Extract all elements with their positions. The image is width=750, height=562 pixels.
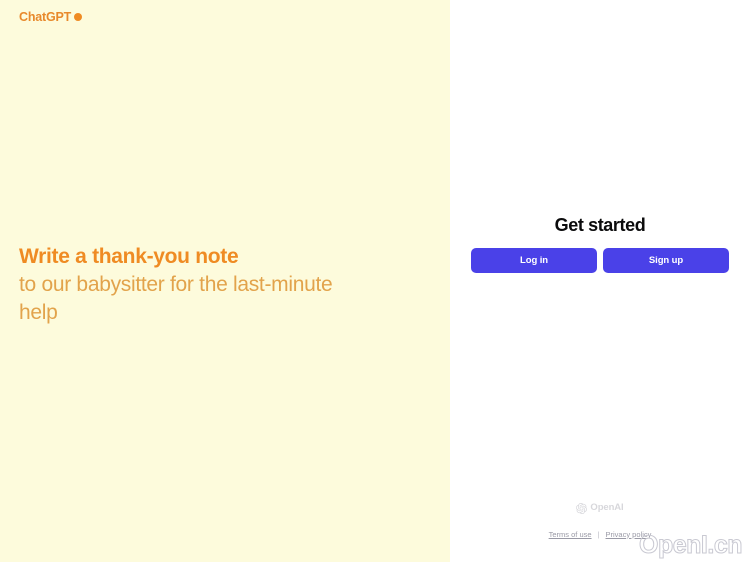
privacy-policy-link[interactable]: Privacy policy [606, 531, 652, 539]
chatgpt-brand: ChatGPT [19, 11, 82, 24]
login-button[interactable]: Log in [471, 248, 597, 273]
openai-logo: OpenAI [576, 503, 623, 514]
left-promo-panel: ChatGPT Write a thank-you note to our ba… [0, 0, 450, 562]
signup-button[interactable]: Sign up [603, 248, 729, 273]
promo-primary-line: Write a thank-you note [19, 243, 419, 271]
right-auth-panel: Get started Log in Sign up OpenAI Terms … [450, 0, 750, 562]
terms-of-use-link[interactable]: Terms of use [549, 531, 592, 539]
openai-logo-text: OpenAI [590, 503, 623, 513]
get-started-heading: Get started [555, 216, 646, 234]
chatgpt-wordmark: ChatGPT [19, 11, 71, 24]
chatgpt-splash-page: ChatGPT Write a thank-you note to our ba… [0, 0, 750, 562]
openai-logo-icon [576, 503, 587, 514]
footer-link-separator: | [598, 531, 600, 539]
footer-links: Terms of use | Privacy policy [549, 531, 652, 539]
promo-secondary-line-1: to our babysitter for the last-minute [19, 271, 419, 299]
footer: OpenAI Terms of use | Privacy policy [450, 503, 750, 539]
auth-button-group: Log in Sign up [471, 248, 729, 273]
orange-dot-icon [74, 13, 82, 21]
promo-suggestion: Write a thank-you note to our babysitter… [19, 243, 419, 327]
auth-block: Get started Log in Sign up [450, 216, 750, 273]
promo-secondary-line-2: help [19, 299, 419, 327]
